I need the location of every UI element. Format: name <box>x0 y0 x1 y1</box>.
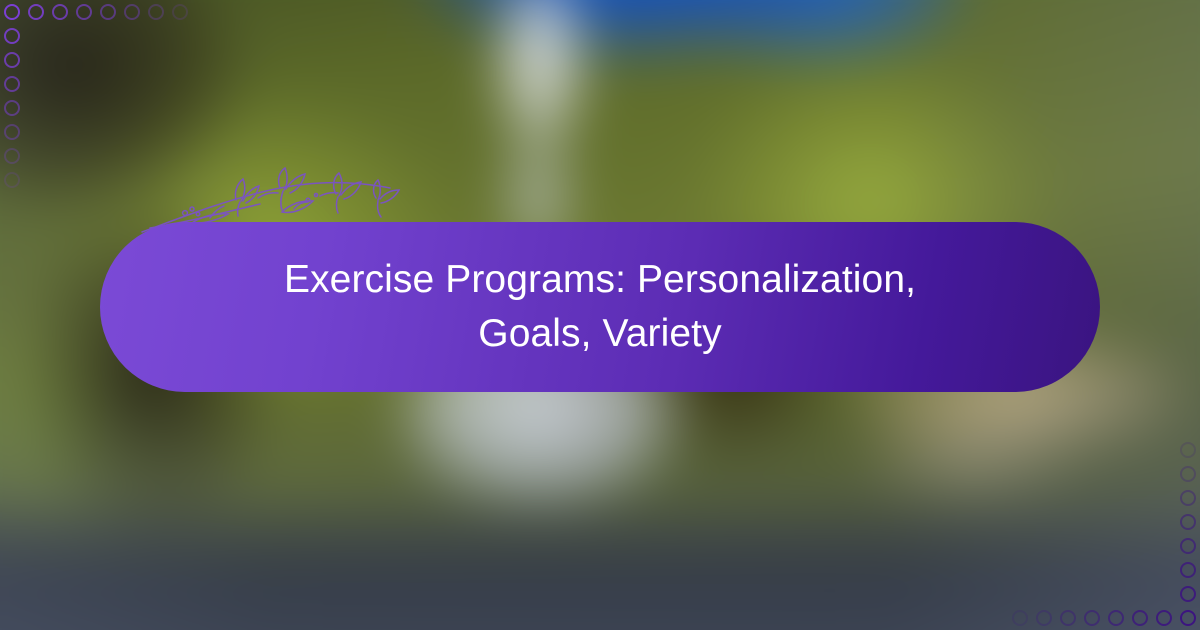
title-banner: Exercise Programs: Personalization, Goal… <box>100 222 1100 392</box>
social-share-card: Exercise Programs: Personalization, Goal… <box>0 0 1200 630</box>
page-title: Exercise Programs: Personalization, Goal… <box>250 253 950 361</box>
